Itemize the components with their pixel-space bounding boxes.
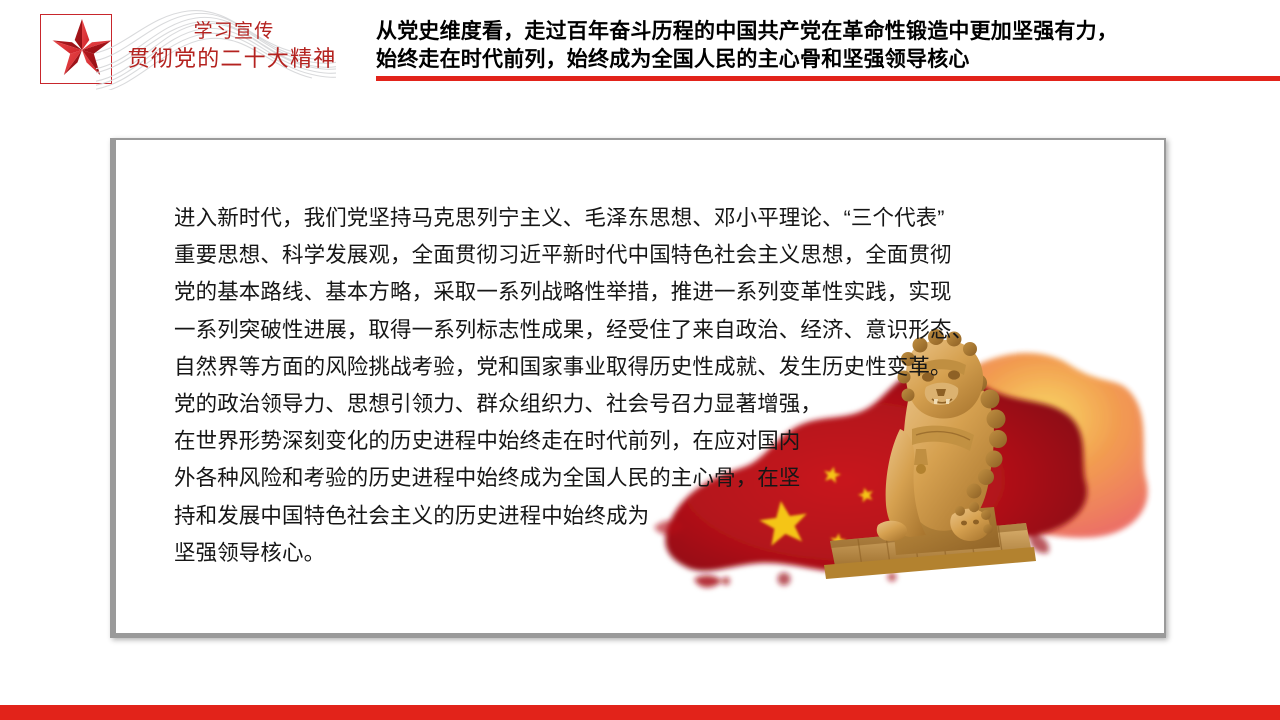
- slide-header: 学习宣传 贯彻党的二十大精神 从党史维度看，走过百年奋斗历程的中国共产党在革命性…: [0, 0, 1280, 96]
- page-title-line-2: 始终走在时代前列，始终成为全国人民的主心骨和坚强领导核心: [376, 46, 1266, 74]
- body-line: 坚强领导核心。: [174, 535, 1054, 572]
- body-line: 党的政治领导力、思想引领力、群众组织力、社会号召力显著增强，: [174, 386, 1054, 423]
- page-title-line-1: 从党史维度看，走过百年奋斗历程的中国共产党在革命性锻造中更加坚强有力，: [376, 18, 1266, 46]
- brand-text: 学习宣传 贯彻党的二十大精神: [124, 19, 344, 73]
- brand-lockup: 学习宣传 贯彻党的二十大精神: [36, 8, 336, 90]
- body-line: 外各种风险和考验的历史进程中始终成为全国人民的主心骨，在坚: [174, 460, 1054, 497]
- header-divider-rule: [376, 76, 1280, 81]
- body-line: 持和发展中国特色社会主义的历史进程中始终成为: [174, 498, 1054, 535]
- body-paragraph: 进入新时代，我们党坚持马克思列宁主义、毛泽东思想、邓小平理论、“三个代表” 重要…: [174, 200, 1054, 572]
- page-title: 从党史维度看，走过百年奋斗历程的中国共产党在革命性锻造中更加坚强有力， 始终走在…: [376, 18, 1266, 74]
- brand-line-1: 学习宣传: [124, 19, 344, 44]
- body-line: 在世界形势深刻变化的历史进程中始终走在时代前列，在应对国内: [174, 423, 1054, 460]
- body-line: 自然界等方面的风险挑战考验，党和国家事业取得历史性成就、发生历史性变革。: [174, 349, 1054, 386]
- body-line: 重要思想、科学发展观，全面贯彻习近平新时代中国特色社会主义思想，全面贯彻: [174, 237, 1054, 274]
- footer-accent-bar: [0, 705, 1280, 720]
- content-card: 进入新时代，我们党坚持马克思列宁主义、毛泽东思想、邓小平理论、“三个代表” 重要…: [116, 140, 1164, 633]
- body-line: 进入新时代，我们党坚持马克思列宁主义、毛泽东思想、邓小平理论、“三个代表”: [174, 200, 1054, 237]
- brand-line-2: 贯彻党的二十大精神: [120, 44, 344, 73]
- body-line: 一系列突破性进展，取得一系列标志性成果，经受住了来自政治、经济、意识形态、: [174, 312, 1054, 349]
- body-line: 党的基本路线、基本方略，采取一系列战略性举措，推进一系列变革性实践，实现: [174, 274, 1054, 311]
